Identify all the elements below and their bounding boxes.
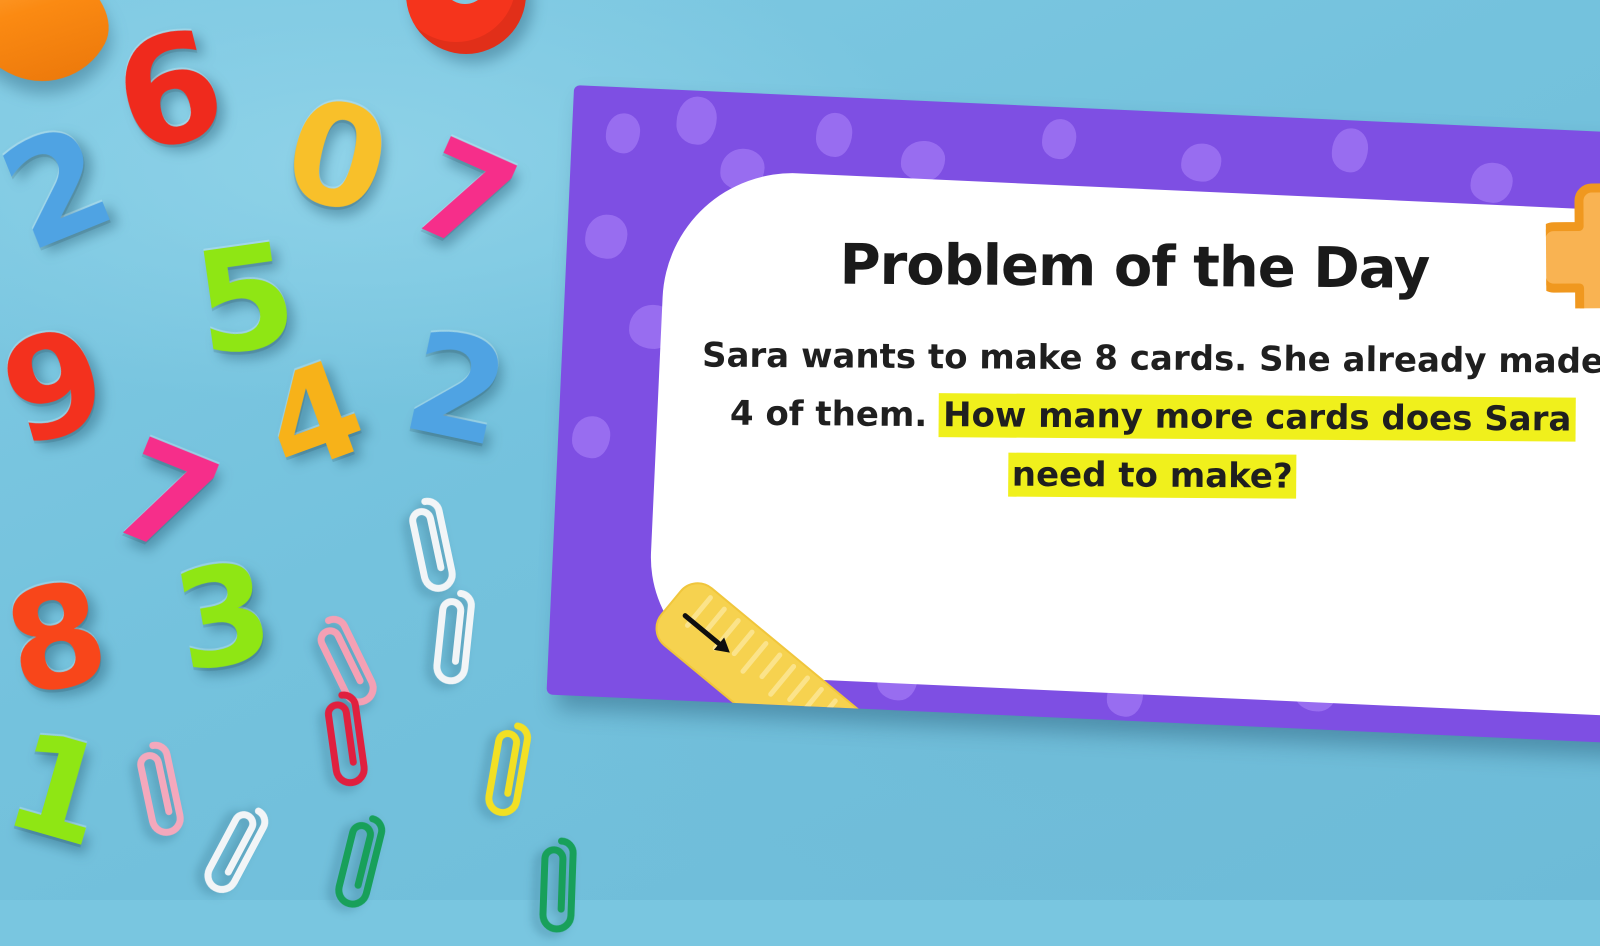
decor-blob [1470, 162, 1514, 204]
decor-blob [1041, 118, 1077, 160]
decor-blob [1331, 128, 1369, 174]
problem-text: Sara wants to make 8 cards. She already … [687, 326, 1600, 508]
plus-icon [1546, 180, 1600, 309]
decor-blob [584, 214, 628, 260]
decor-blob [571, 415, 611, 459]
page-title: Problem of the Day [664, 231, 1600, 303]
white-content-panel: Problem of the Day Sara wants to make 8 … [646, 167, 1600, 717]
paperclip-green-2 [531, 824, 585, 946]
slide-card-wrapper: Problem of the Day Sara wants to make 8 … [506, 73, 1600, 763]
ruler-icon [641, 568, 950, 744]
decor-blob [676, 96, 718, 146]
decor-blob [1180, 143, 1222, 183]
problem-text-highlighted: How many more cards does Sara need to ma… [939, 394, 1576, 499]
decor-blob [815, 112, 853, 158]
decor-blob [605, 113, 641, 155]
decor-blob [900, 140, 946, 182]
slide-card: Problem of the Day Sara wants to make 8 … [546, 85, 1600, 744]
